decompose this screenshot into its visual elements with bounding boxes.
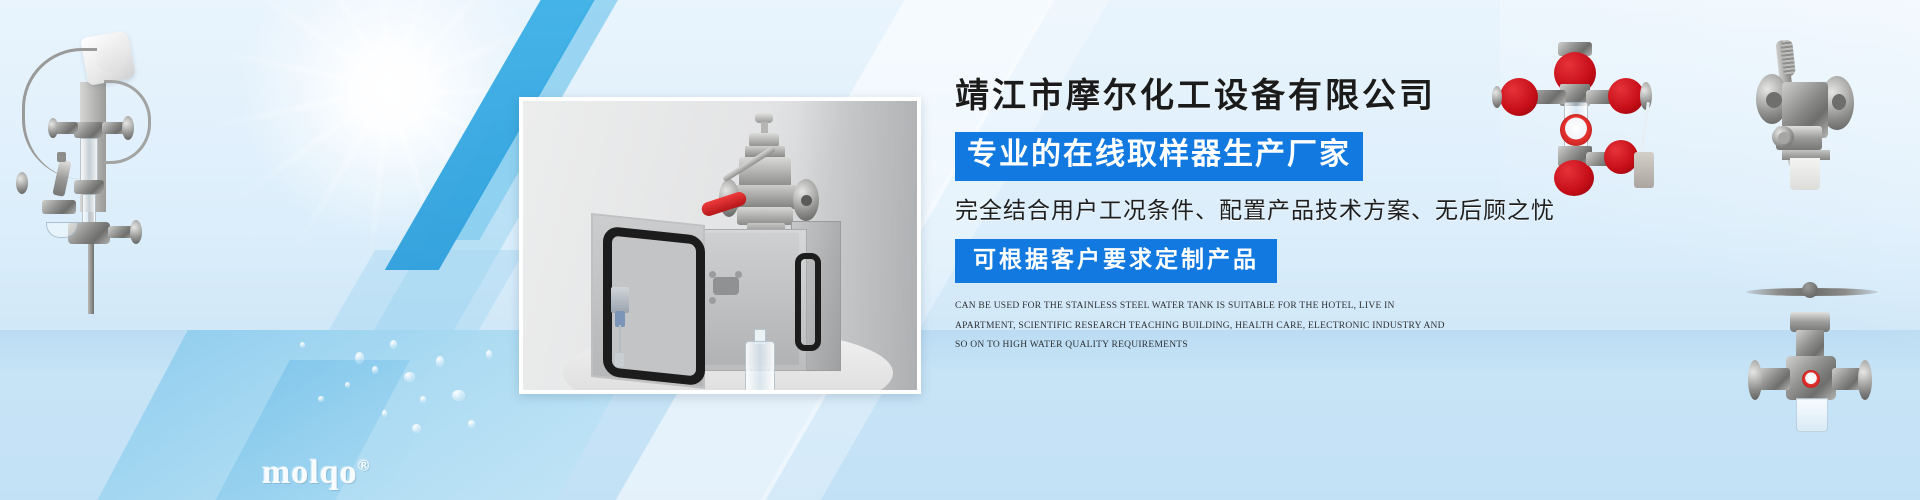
manifold-logo-badge: [1560, 114, 1592, 146]
company-name: 靖江市摩尔化工设备有限公司: [955, 78, 1475, 115]
right-top-product-illustration: [1492, 34, 1662, 164]
tagline-badge: 可根据客户要求定制产品: [955, 239, 1277, 283]
center-product-photo: [519, 97, 921, 394]
watermark-text: molqo: [262, 454, 358, 491]
promo-banner: 靖江市摩尔化工设备有限公司 专业的在线取样器生产厂家 完全结合用户工况条件、配置…: [0, 0, 1920, 500]
english-caption: CAN BE USED FOR THE STAINLESS STEEL WATE…: [955, 297, 1453, 355]
watermark-logo: molqo®: [262, 454, 371, 492]
bottom-right-product-illustration: [1742, 268, 1892, 433]
right-product-illustration: [1716, 26, 1886, 206]
left-product-illustration: [8, 22, 148, 312]
watermark-registered-mark: ®: [358, 458, 371, 475]
headline-badge: 专业的在线取样器生产厂家: [955, 132, 1363, 181]
valve-logo-badge-2: [1802, 370, 1820, 388]
banner-text-block: 靖江市摩尔化工设备有限公司 专业的在线取样器生产厂家 完全结合用户工况条件、配置…: [955, 78, 1475, 355]
sub-headline: 完全结合用户工况条件、配置产品技术方案、无后顾之忧: [955, 197, 1475, 225]
